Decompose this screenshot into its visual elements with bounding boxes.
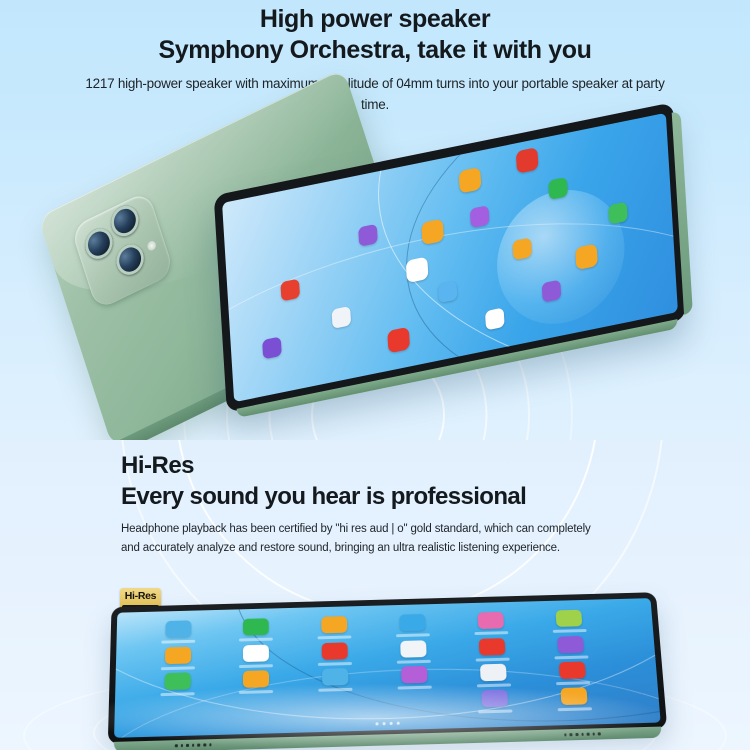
- app-icon[interactable]: [512, 237, 532, 260]
- app-icon[interactable]: [609, 201, 629, 224]
- badge-top-label: Hi-Res: [120, 588, 161, 605]
- camera-flash-icon: [146, 239, 157, 252]
- app-icon[interactable]: [332, 306, 352, 329]
- camera-lens-icon: [107, 201, 142, 242]
- app-icon[interactable]: [477, 612, 504, 629]
- speaker-heading-line1: High power speaker: [0, 4, 750, 35]
- app-icon[interactable]: [575, 244, 598, 271]
- app-icon[interactable]: [555, 610, 582, 627]
- app-icon[interactable]: [421, 219, 444, 246]
- app-icon[interactable]: [541, 279, 561, 302]
- speaker-body-text: 1217 high-power speaker with maximum amp…: [85, 74, 665, 116]
- app-icon[interactable]: [164, 672, 190, 690]
- speaker-section: High power speaker Symphony Orchestra, t…: [0, 0, 750, 440]
- app-icon[interactable]: [358, 224, 378, 247]
- app-icon[interactable]: [165, 620, 191, 637]
- app-icon[interactable]: [438, 280, 458, 303]
- grille-hole: [180, 744, 183, 747]
- speaker-heading-block: High power speaker Symphony Orchestra, t…: [0, 4, 750, 116]
- app-icon[interactable]: [281, 278, 301, 301]
- app-icon[interactable]: [243, 644, 269, 661]
- app-icon[interactable]: [405, 256, 428, 283]
- product-page: High power speaker Symphony Orchestra, t…: [0, 0, 750, 750]
- hires-section: Hi-Res Every sound you hear is professio…: [0, 440, 750, 750]
- app-icon[interactable]: [322, 642, 348, 659]
- app-icon[interactable]: [458, 167, 481, 194]
- speaker-heading-line2: Symphony Orchestra, take it with you: [0, 35, 750, 66]
- app-icon[interactable]: [549, 177, 569, 200]
- hires-body-text: Headphone playback has been certified by…: [121, 520, 591, 557]
- app-icon[interactable]: [480, 664, 507, 682]
- grille-hole: [175, 744, 178, 747]
- app-icon[interactable]: [387, 326, 410, 353]
- app-icon[interactable]: [400, 640, 426, 657]
- app-icon[interactable]: [515, 147, 538, 174]
- app-icon[interactable]: [469, 205, 489, 228]
- app-icon[interactable]: [559, 662, 586, 680]
- app-icon[interactable]: [557, 636, 584, 653]
- app-icon[interactable]: [262, 336, 282, 359]
- camera-lens-icon: [113, 239, 148, 280]
- app-icon[interactable]: [243, 618, 269, 635]
- app-icon[interactable]: [485, 307, 505, 330]
- camera-lens-icon: [81, 223, 116, 264]
- app-icon[interactable]: [401, 666, 428, 684]
- app-icon[interactable]: [321, 616, 347, 633]
- hires-heading-line1: Hi-Res: [121, 452, 194, 480]
- app-icon[interactable]: [399, 614, 425, 631]
- floor-glow: [65, 682, 685, 750]
- app-icon[interactable]: [165, 646, 191, 663]
- app-icon[interactable]: [479, 638, 506, 655]
- hires-heading-line2: Every sound you hear is professional: [121, 483, 526, 511]
